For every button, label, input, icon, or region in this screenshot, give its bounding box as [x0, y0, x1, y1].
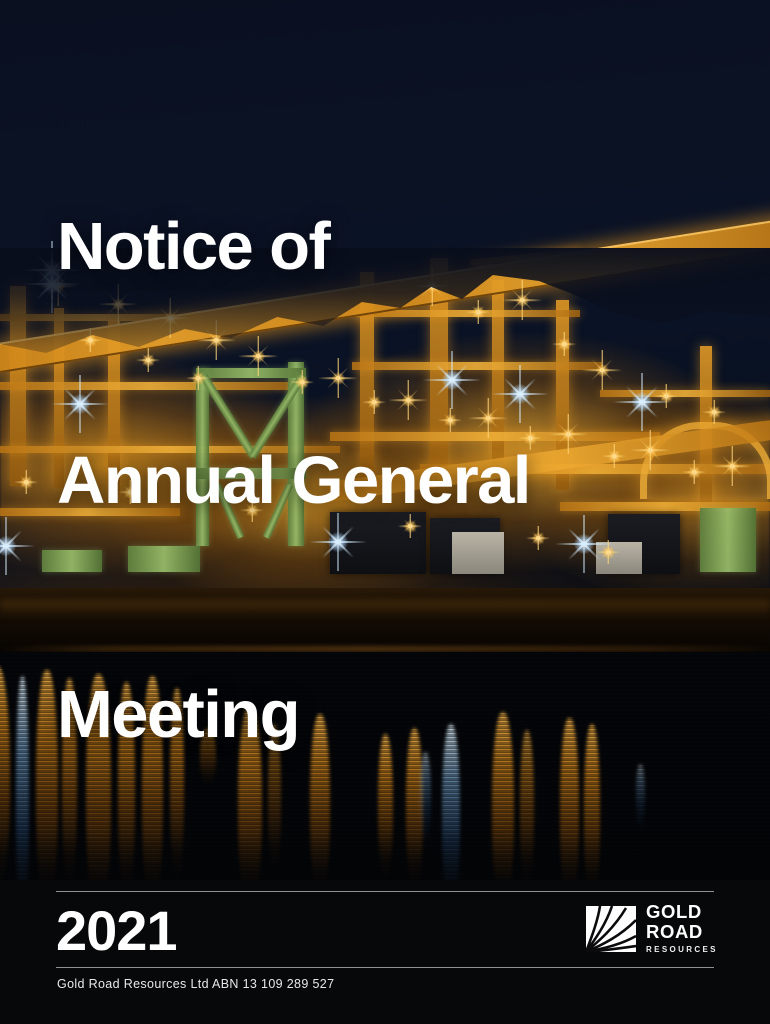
gold-road-radiating-lines-icon [586, 906, 636, 952]
divider-below-year [56, 967, 714, 968]
title-line-3: Meeting [57, 676, 530, 754]
logo-wordmark: GOLD ROAD RESOURCES [646, 903, 718, 955]
logo-line-gold: GOLD [646, 903, 718, 922]
divider-above-year [56, 891, 714, 892]
legal-entity-line: Gold Road Resources Ltd ABN 13 109 289 5… [57, 977, 334, 991]
gold-road-resources-logo: GOLD ROAD RESOURCES [586, 904, 716, 954]
logo-line-road: ROAD [646, 923, 718, 942]
document-cover-page: Notice of Annual General Meeting 2021 GO… [0, 0, 770, 1024]
logo-line-resources: RESOURCES [646, 944, 718, 955]
title-line-1: Notice of [57, 208, 530, 286]
page-title: Notice of Annual General Meeting [57, 52, 530, 910]
title-line-2: Annual General [57, 442, 530, 520]
year-label: 2021 [56, 903, 177, 959]
